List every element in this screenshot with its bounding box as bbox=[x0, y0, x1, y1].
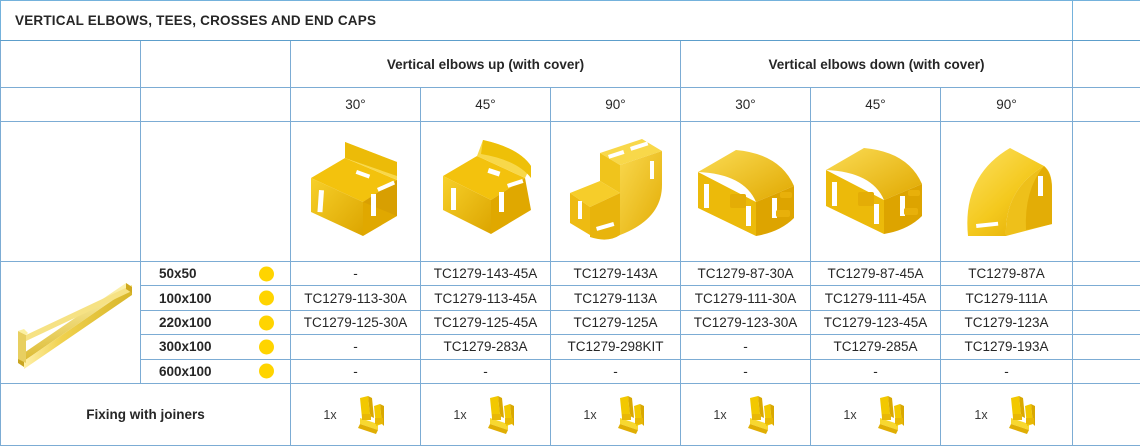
row-trailing-cell bbox=[1073, 359, 1140, 383]
cell-r4-c3: - bbox=[681, 359, 811, 383]
table-row: 220x100 TC1279-125-30A TC1279-125-45A TC… bbox=[1, 310, 1140, 334]
cell-r3-c2: TC1279-298KIT bbox=[551, 335, 681, 359]
row-trailing-cell bbox=[1073, 335, 1140, 359]
cell-r4-c4: - bbox=[811, 359, 941, 383]
size-label-cell: 600x100 bbox=[141, 359, 291, 383]
cell-r3-c4: TC1279-285A bbox=[811, 335, 941, 359]
angle-corner-left bbox=[1, 88, 141, 122]
size-label-cell: 300x100 bbox=[141, 335, 291, 359]
table-row: 300x100 - TC1279-283A TC1279-298KIT - TC… bbox=[1, 335, 1140, 359]
straight-tray-profile-image bbox=[1, 262, 140, 383]
joiner-icon bbox=[474, 394, 518, 436]
cell-r3-c1: TC1279-283A bbox=[421, 335, 551, 359]
elbow-down-45-image bbox=[811, 128, 940, 256]
size-label: 50x50 bbox=[159, 266, 197, 281]
elbow-up-30-image bbox=[291, 128, 420, 256]
joiner-icon bbox=[864, 394, 908, 436]
angle-header-down-90: 90° bbox=[941, 88, 1073, 122]
elbow-up-45-image bbox=[421, 128, 550, 256]
cell-r4-c2: - bbox=[551, 359, 681, 383]
cell-r1-c3: TC1279-111-30A bbox=[681, 286, 811, 310]
size-label: 300x100 bbox=[159, 339, 212, 354]
fixing-cell-5: 1x bbox=[941, 384, 1073, 446]
cell-r2-c3: TC1279-123-30A bbox=[681, 310, 811, 334]
size-label-cell: 220x100 bbox=[141, 310, 291, 334]
title-row: VERTICAL ELBOWS, TEES, CROSSES AND END C… bbox=[1, 1, 1140, 41]
angle-header-up-30: 30° bbox=[291, 88, 421, 122]
size-label: 100x100 bbox=[159, 291, 212, 306]
cell-r4-c1: - bbox=[421, 359, 551, 383]
row-trailing-cell bbox=[1073, 261, 1140, 285]
product-table: VERTICAL ELBOWS, TEES, CROSSES AND END C… bbox=[0, 0, 1140, 446]
color-dot-icon bbox=[259, 266, 274, 281]
angle-header-down-45: 45° bbox=[811, 88, 941, 122]
joiner-icon bbox=[734, 394, 778, 436]
cell-r3-c0: - bbox=[291, 335, 421, 359]
elbow-down-30-image bbox=[681, 128, 810, 256]
catalog-sheet: VERTICAL ELBOWS, TEES, CROSSES AND END C… bbox=[0, 0, 1140, 446]
table-row: 100x100 TC1279-113-30A TC1279-113-45A TC… bbox=[1, 286, 1140, 310]
fixing-qty: 1x bbox=[974, 408, 987, 422]
row-trailing-cell bbox=[1073, 286, 1140, 310]
cell-r0-c0: - bbox=[291, 261, 421, 285]
row-trailing-cell bbox=[1073, 310, 1140, 334]
group-header-elbows-up: Vertical elbows up (with cover) bbox=[291, 41, 681, 88]
elbow-down-30-cell bbox=[681, 122, 811, 261]
size-label: 600x100 bbox=[159, 364, 212, 379]
cell-r2-c0: TC1279-125-30A bbox=[291, 310, 421, 334]
size-label-cell: 100x100 bbox=[141, 286, 291, 310]
cell-r1-c1: TC1279-113-45A bbox=[421, 286, 551, 310]
straight-tray-profile-cell bbox=[1, 261, 141, 383]
joiner-icon bbox=[604, 394, 648, 436]
cell-r2-c5: TC1279-123A bbox=[941, 310, 1073, 334]
size-label: 220x100 bbox=[159, 315, 212, 330]
color-dot-icon bbox=[259, 315, 274, 330]
image-corner-sizes bbox=[141, 122, 291, 261]
angle-corner-sizes bbox=[141, 88, 291, 122]
cell-r0-c4: TC1279-87-45A bbox=[811, 261, 941, 285]
angle-header-row: 30° 45° 90° 30° 45° 90° bbox=[1, 88, 1140, 122]
group-header-trailing-cell bbox=[1073, 41, 1140, 88]
size-label-cell: 50x50 bbox=[141, 261, 291, 285]
fixing-cell-1: 1x bbox=[421, 384, 551, 446]
color-dot-icon bbox=[259, 364, 274, 379]
cell-r1-c4: TC1279-111-45A bbox=[811, 286, 941, 310]
elbow-up-90-cell bbox=[551, 122, 681, 261]
fixing-qty: 1x bbox=[843, 408, 856, 422]
fixing-cell-3: 1x bbox=[681, 384, 811, 446]
fixing-row: Fixing with joiners 1x 1x bbox=[1, 384, 1140, 446]
fixing-label: Fixing with joiners bbox=[1, 384, 291, 446]
cell-r0-c1: TC1279-143-45A bbox=[421, 261, 551, 285]
fixing-qty: 1x bbox=[713, 408, 726, 422]
title-trailing-cell bbox=[1073, 1, 1140, 41]
table-row: 50x50 - TC1279-143-45A TC1279-143A TC127… bbox=[1, 261, 1140, 285]
elbow-down-45-cell bbox=[811, 122, 941, 261]
angle-header-up-90: 90° bbox=[551, 88, 681, 122]
cell-r2-c4: TC1279-123-45A bbox=[811, 310, 941, 334]
color-dot-icon bbox=[259, 291, 274, 306]
cell-r0-c3: TC1279-87-30A bbox=[681, 261, 811, 285]
fixing-qty: 1x bbox=[323, 408, 336, 422]
product-image-row bbox=[1, 122, 1140, 261]
image-row-trailing-cell bbox=[1073, 122, 1140, 261]
cell-r1-c5: TC1279-111A bbox=[941, 286, 1073, 310]
corner-cell-left bbox=[1, 41, 141, 88]
fixing-cell-4: 1x bbox=[811, 384, 941, 446]
elbow-down-90-cell bbox=[941, 122, 1073, 261]
corner-cell-sizes bbox=[141, 41, 291, 88]
cell-r0-c5: TC1279-87A bbox=[941, 261, 1073, 285]
cell-r4-c5: - bbox=[941, 359, 1073, 383]
cell-r1-c2: TC1279-113A bbox=[551, 286, 681, 310]
elbow-up-90-image bbox=[551, 128, 680, 256]
angle-header-down-30: 30° bbox=[681, 88, 811, 122]
angle-header-trailing-cell bbox=[1073, 88, 1140, 122]
color-dot-icon bbox=[259, 339, 274, 354]
joiner-icon bbox=[995, 394, 1039, 436]
elbow-up-45-cell bbox=[421, 122, 551, 261]
fixing-cell-2: 1x bbox=[551, 384, 681, 446]
fixing-row-trailing-cell bbox=[1073, 384, 1140, 446]
group-header-elbows-down: Vertical elbows down (with cover) bbox=[681, 41, 1073, 88]
fixing-cell-0: 1x bbox=[291, 384, 421, 446]
cell-r2-c1: TC1279-125-45A bbox=[421, 310, 551, 334]
cell-r0-c2: TC1279-143A bbox=[551, 261, 681, 285]
page-title: VERTICAL ELBOWS, TEES, CROSSES AND END C… bbox=[1, 1, 1073, 41]
cell-r2-c2: TC1279-125A bbox=[551, 310, 681, 334]
cell-r4-c0: - bbox=[291, 359, 421, 383]
joiner-icon bbox=[344, 394, 388, 436]
group-header-row: Vertical elbows up (with cover) Vertical… bbox=[1, 41, 1140, 88]
fixing-qty: 1x bbox=[583, 408, 596, 422]
table-row: 600x100 - - - - - - bbox=[1, 359, 1140, 383]
fixing-qty: 1x bbox=[453, 408, 466, 422]
elbow-down-90-image bbox=[941, 128, 1072, 256]
elbow-up-30-cell bbox=[291, 122, 421, 261]
cell-r3-c5: TC1279-193A bbox=[941, 335, 1073, 359]
cell-r1-c0: TC1279-113-30A bbox=[291, 286, 421, 310]
image-corner-left bbox=[1, 122, 141, 261]
angle-header-up-45: 45° bbox=[421, 88, 551, 122]
cell-r3-c3: - bbox=[681, 335, 811, 359]
